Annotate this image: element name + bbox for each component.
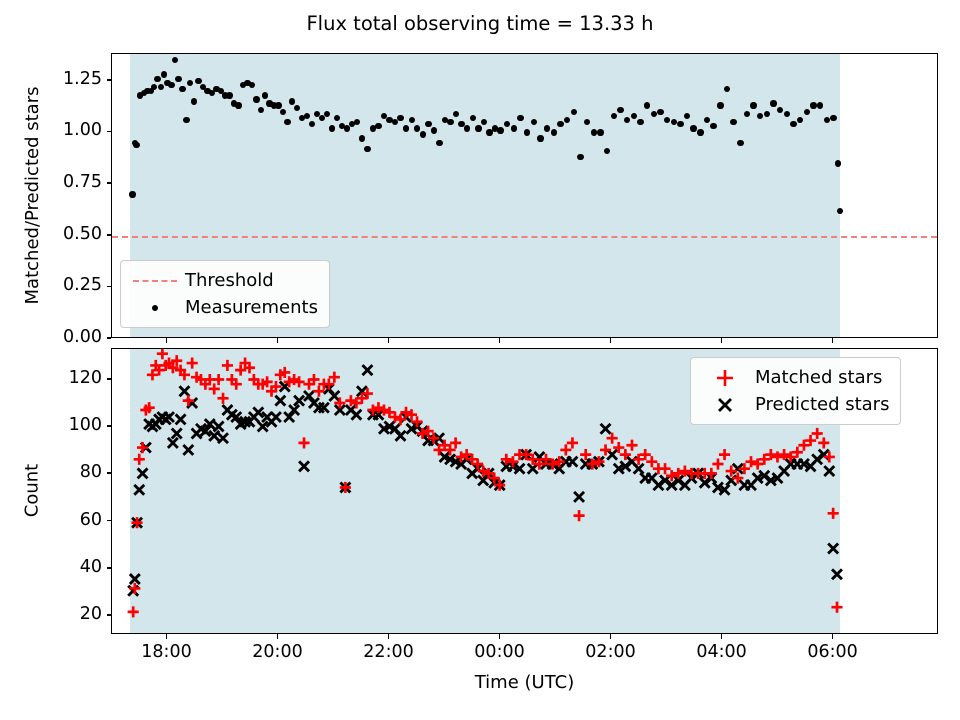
data-point-measurement: [770, 100, 776, 106]
data-point-measurement: [730, 119, 736, 125]
data-point-matched-star: [134, 454, 145, 465]
data-point-measurement: [671, 119, 677, 125]
y-axis-tick-label: 120: [12, 368, 102, 388]
data-point-matched-star: [745, 456, 756, 467]
data-point-measurement: [253, 96, 259, 102]
figure-title: Flux total observing time = 13.33 h: [0, 12, 960, 35]
data-point-measurement: [577, 154, 583, 160]
data-point-measurement: [397, 115, 403, 121]
data-point-measurement: [425, 121, 431, 127]
data-point-matched-star: [828, 508, 839, 519]
data-point-measurement: [284, 119, 290, 125]
data-point-matched-star: [157, 349, 168, 359]
data-point-matched-star: [222, 360, 233, 371]
data-point-measurement: [724, 86, 730, 92]
bottom-panel-legend[interactable]: Matched stars Predicted stars: [690, 357, 901, 425]
data-point-measurement: [804, 109, 810, 115]
data-point-predicted-star: [183, 445, 193, 455]
data-point-matched-star: [772, 451, 783, 462]
data-point-matched-star: [646, 456, 657, 467]
data-point-measurement: [637, 119, 643, 125]
data-point-measurement: [172, 57, 178, 63]
data-point-measurement: [531, 119, 537, 125]
data-point-measurement: [414, 125, 420, 131]
data-point-measurement: [757, 113, 763, 119]
x-axis-tick-label: 22:00: [329, 642, 449, 662]
data-point-matched-star: [626, 440, 637, 451]
legend-label-measurements: Measurements: [181, 297, 318, 318]
data-point-measurement: [677, 121, 683, 127]
data-point-measurement: [657, 109, 663, 115]
data-point-measurement: [551, 129, 557, 135]
data-point-measurement: [564, 117, 570, 123]
plus-marker-icon: [699, 366, 751, 390]
data-point-predicted-star: [253, 407, 263, 417]
data-point-measurement: [191, 98, 197, 104]
y-axis-tick-label: 1.00: [12, 120, 102, 140]
data-point-predicted-star: [218, 433, 228, 443]
x-axis-tick-mark: [388, 634, 390, 639]
data-point-measurement: [624, 117, 630, 123]
data-point-measurement: [324, 111, 330, 117]
data-point-measurement: [275, 102, 281, 108]
y-axis-tick-label: 1.25: [12, 69, 102, 89]
data-point-measurement: [235, 102, 241, 108]
data-point-matched-star: [567, 437, 578, 448]
y-axis-tick-label: 0.25: [12, 275, 102, 295]
data-point-predicted-star: [258, 421, 268, 431]
data-point-measurement: [824, 117, 830, 123]
data-point-matched-star: [831, 602, 842, 613]
dashed-line-icon: [129, 269, 181, 293]
data-point-measurement: [617, 107, 623, 113]
data-point-measurement: [611, 113, 617, 119]
data-point-measurement: [797, 117, 803, 123]
data-point-predicted-star: [138, 468, 148, 478]
data-point-measurement: [810, 102, 816, 108]
y-axis-tick-label: 0.00: [12, 327, 102, 347]
data-point-predicted-star: [824, 466, 834, 476]
data-point-measurement: [175, 76, 181, 82]
data-point-measurement: [447, 119, 453, 125]
data-point-measurement: [154, 76, 160, 82]
data-point-measurement: [334, 115, 340, 121]
data-point-predicted-star: [351, 410, 361, 420]
data-point-measurement: [161, 71, 167, 77]
data-point-matched-star: [659, 463, 670, 474]
data-point-measurement: [504, 121, 510, 127]
data-point-measurement: [597, 129, 603, 135]
data-point-matched-star: [298, 437, 309, 448]
data-point-measurement: [304, 113, 310, 119]
x-axis-tick-mark: [166, 338, 168, 343]
dot-marker-icon: [129, 296, 181, 320]
data-point-predicted-star: [179, 386, 189, 396]
x-axis-tick-mark: [832, 338, 834, 343]
data-point-measurement: [179, 86, 185, 92]
data-point-measurement: [481, 119, 487, 125]
data-point-matched-star: [574, 510, 585, 521]
data-point-measurement: [557, 121, 563, 127]
data-point-measurement: [420, 131, 426, 137]
data-point-measurement: [604, 148, 610, 154]
data-point-measurement: [470, 115, 476, 121]
data-point-measurement: [591, 129, 597, 135]
legend-item-matched-stars[interactable]: Matched stars: [699, 364, 889, 391]
data-point-measurement: [544, 125, 550, 131]
cross-marker-icon: [699, 393, 751, 417]
data-point-matched-star: [187, 358, 198, 369]
y-axis-tick-label: 40: [12, 557, 102, 577]
data-point-measurement: [690, 125, 696, 131]
y-axis-tick-label: 60: [12, 510, 102, 530]
x-axis-tick-mark: [166, 634, 168, 639]
matplotlib-figure: Flux total observing time = 13.33 h Matc…: [0, 0, 960, 720]
data-point-measurement: [790, 121, 796, 127]
data-point-matched-star: [217, 393, 228, 404]
data-point-measurement: [409, 117, 415, 123]
data-point-measurement: [537, 135, 543, 141]
data-point-measurement: [249, 82, 255, 88]
top-panel-legend[interactable]: Threshold Measurements: [120, 260, 330, 328]
data-point-measurement: [497, 127, 503, 133]
data-point-measurement: [777, 107, 783, 113]
data-point-measurement: [511, 125, 517, 131]
legend-label-threshold: Threshold: [181, 270, 274, 291]
x-axis-tick-mark: [499, 634, 501, 639]
legend-item-threshold[interactable]: Threshold: [129, 267, 318, 294]
data-point-measurement: [294, 105, 300, 111]
data-point-matched-star: [560, 444, 571, 455]
data-point-predicted-star: [164, 412, 174, 422]
data-point-measurement: [651, 111, 657, 117]
data-point-measurement: [453, 111, 459, 117]
data-point-measurement: [571, 109, 577, 115]
data-point-predicted-star: [130, 574, 140, 584]
x-axis-tick-mark: [832, 634, 834, 639]
x-axis-tick-mark: [388, 338, 390, 343]
data-point-measurement: [830, 115, 836, 121]
data-point-measurement: [704, 117, 710, 123]
data-point-measurement: [262, 92, 268, 98]
data-point-measurement: [354, 119, 360, 125]
x-axis-tick-mark: [499, 338, 501, 343]
data-point-measurement: [133, 142, 139, 148]
data-point-predicted-star: [294, 396, 304, 406]
data-point-measurement: [403, 125, 409, 131]
legend-label-predicted-stars: Predicted stars: [751, 394, 889, 415]
data-point-predicted-star: [168, 438, 178, 448]
data-point-measurement: [631, 113, 637, 119]
x-axis-tick-mark: [610, 338, 612, 343]
x-axis-tick-mark: [277, 634, 279, 639]
data-point-measurement: [817, 102, 823, 108]
bottom-panel-y-axis-label: Count: [22, 348, 43, 634]
legend-label-matched-stars: Matched stars: [751, 367, 882, 388]
data-point-predicted-star: [271, 412, 281, 422]
x-axis-tick-label: 18:00: [107, 642, 227, 662]
data-point-measurement: [226, 92, 232, 98]
data-point-predicted-star: [832, 569, 842, 579]
x-axis-tick-label: 02:00: [551, 642, 671, 662]
data-point-measurement: [187, 80, 193, 86]
y-axis-tick-label: 100: [12, 415, 102, 435]
data-point-matched-star: [719, 449, 730, 460]
x-axis-tick-label: 06:00: [773, 642, 893, 662]
x-axis-tick-label: 04:00: [662, 642, 782, 662]
data-point-measurement: [280, 109, 286, 115]
x-axis-label: Time (UTC): [111, 672, 938, 693]
data-point-predicted-star: [275, 396, 285, 406]
data-point-measurement: [195, 78, 201, 84]
y-axis-tick-label: 20: [12, 604, 102, 624]
data-point-matched-star: [779, 449, 790, 460]
x-axis-tick-label: 20:00: [218, 642, 338, 662]
data-point-measurement: [258, 107, 264, 113]
data-point-measurement: [710, 123, 716, 129]
data-point-measurement: [158, 84, 164, 90]
data-point-measurement: [837, 208, 843, 214]
data-point-measurement: [436, 140, 442, 146]
data-point-matched-star: [712, 458, 723, 469]
data-point-predicted-star: [362, 365, 372, 375]
data-point-matched-star: [137, 442, 148, 453]
data-point-measurement: [168, 82, 174, 88]
data-point-predicted-star: [134, 485, 144, 495]
data-point-measurement: [431, 127, 437, 133]
data-point-matched-star: [812, 428, 823, 439]
data-point-predicted-star: [601, 424, 611, 434]
data-point-measurement: [151, 84, 157, 90]
data-point-measurement: [697, 129, 703, 135]
data-point-predicted-star: [574, 492, 584, 502]
data-point-measurement: [129, 191, 135, 197]
data-point-measurement: [464, 125, 470, 131]
data-point-measurement: [737, 140, 743, 146]
data-point-measurement: [524, 129, 530, 135]
x-axis-tick-mark: [721, 634, 723, 639]
data-point-measurement: [329, 125, 335, 131]
data-point-matched-star: [706, 468, 717, 479]
y-axis-tick-label: 80: [12, 462, 102, 482]
data-point-predicted-star: [214, 421, 224, 431]
data-point-measurement: [784, 111, 790, 117]
data-point-measurement: [835, 160, 841, 166]
data-point-measurement: [684, 113, 690, 119]
threshold-line: [112, 236, 937, 238]
y-axis-tick-label: 0.50: [12, 224, 102, 244]
data-point-predicted-star: [209, 431, 219, 441]
data-point-predicted-star: [828, 544, 838, 554]
data-point-matched-star: [607, 433, 618, 444]
data-point-measurement: [517, 115, 523, 121]
data-point-matched-star: [818, 437, 829, 448]
data-point-measurement: [584, 119, 590, 125]
data-point-matched-star: [128, 606, 139, 617]
data-point-measurement: [664, 117, 670, 123]
data-point-predicted-star: [176, 414, 186, 424]
legend-item-measurements[interactable]: Measurements: [129, 294, 318, 321]
data-point-measurement: [750, 102, 756, 108]
y-axis-tick-label: 0.75: [12, 172, 102, 192]
data-point-predicted-star: [634, 464, 644, 474]
data-point-measurement: [764, 111, 770, 117]
data-point-predicted-star: [172, 429, 182, 439]
x-axis-tick-label: 00:00: [440, 642, 560, 662]
x-axis-tick-mark: [610, 634, 612, 639]
legend-item-predicted-stars[interactable]: Predicted stars: [699, 391, 889, 418]
x-axis-tick-mark: [277, 338, 279, 343]
data-point-measurement: [744, 111, 750, 117]
data-point-measurement: [289, 98, 295, 104]
data-point-matched-star: [450, 437, 461, 448]
data-point-predicted-star: [567, 457, 577, 467]
x-axis-tick-mark: [721, 338, 723, 343]
data-point-measurement: [375, 123, 381, 129]
data-point-measurement: [364, 146, 370, 152]
data-point-matched-star: [329, 372, 340, 383]
data-point-predicted-star: [299, 461, 309, 471]
data-point-measurement: [475, 125, 481, 131]
data-point-measurement: [644, 102, 650, 108]
data-point-measurement: [309, 121, 315, 127]
data-point-measurement: [359, 135, 365, 141]
data-point-matched-star: [400, 407, 411, 418]
data-point-measurement: [717, 102, 723, 108]
data-point-measurement: [183, 117, 189, 123]
